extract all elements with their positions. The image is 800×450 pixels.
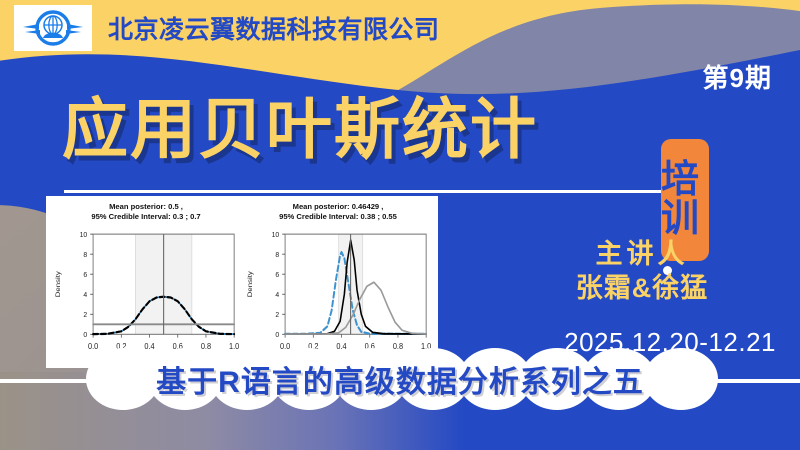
svg-text:Density: Density xyxy=(53,270,61,296)
chart-plot-left: 02468100.00.20.40.60.81.0Density xyxy=(50,223,242,366)
chart-panel-left: Mean posterior: 0.5 , 95% Credible Inter… xyxy=(50,199,242,365)
title-underline-rule xyxy=(64,190,668,193)
chart-card: Mean posterior: 0.5 , 95% Credible Inter… xyxy=(46,196,438,368)
speaker-role-label: 主讲人 xyxy=(512,238,772,270)
company-name: 北京凌云翼数据科技有限公司 xyxy=(108,10,440,46)
svg-text:Density: Density xyxy=(245,270,253,296)
winged-globe-logo-icon xyxy=(21,8,85,48)
chart-title-right-line2: 95% Credible Interval: 0.38 ; 0.55 xyxy=(242,212,434,222)
svg-text:0: 0 xyxy=(83,329,87,339)
bottom-banner: 基于R语言的高级数据分析系列之五 xyxy=(0,348,800,410)
chart-body-left: 02468100.00.20.40.60.81.0Density xyxy=(50,223,242,366)
svg-text:0: 0 xyxy=(275,329,279,339)
poster-header: 北京凌云翼数据科技有限公司 xyxy=(0,0,800,56)
svg-text:4: 4 xyxy=(83,289,87,299)
training-badge-label: 培训 xyxy=(661,161,709,239)
svg-text:8: 8 xyxy=(83,249,87,259)
promo-poster: 北京凌云翼数据科技有限公司 第9期 应用贝叶斯统计 培训 主讲人 张霜&徐猛 2… xyxy=(0,0,800,450)
chart-title-right: Mean posterior: 0.46429 , 95% Credible I… xyxy=(242,199,434,223)
logo-container xyxy=(14,5,92,51)
chart-title-right-line1: Mean posterior: 0.46429 , xyxy=(242,202,434,212)
speaker-block: 主讲人 张霜&徐猛 xyxy=(512,238,772,306)
svg-text:4: 4 xyxy=(275,289,279,299)
chart-title-left-line1: Mean posterior: 0.5 , xyxy=(50,202,242,212)
page-title: 应用贝叶斯统计 xyxy=(62,96,538,162)
chart-title-left-line2: 95% Credible Interval: 0.3 ; 0.7 xyxy=(50,212,242,222)
issue-number-label: 第9期 xyxy=(703,58,772,95)
svg-text:6: 6 xyxy=(83,269,87,279)
svg-text:6: 6 xyxy=(275,269,279,279)
svg-text:2: 2 xyxy=(83,309,87,319)
svg-text:10: 10 xyxy=(80,229,88,239)
speaker-names: 张霜&徐猛 xyxy=(512,272,772,306)
chart-panel-right: Mean posterior: 0.46429 , 95% Credible I… xyxy=(242,199,434,365)
chart-plot-right: 02468100.00.20.40.60.81.0Density xyxy=(242,223,434,366)
svg-text:2: 2 xyxy=(275,309,279,319)
chart-body-right: 02468100.00.20.40.60.81.0Density xyxy=(242,223,434,366)
bottom-banner-text: 基于R语言的高级数据分析系列之五 xyxy=(0,348,800,410)
svg-text:10: 10 xyxy=(272,229,280,239)
svg-text:8: 8 xyxy=(275,249,279,259)
chart-title-left: Mean posterior: 0.5 , 95% Credible Inter… xyxy=(50,199,242,223)
